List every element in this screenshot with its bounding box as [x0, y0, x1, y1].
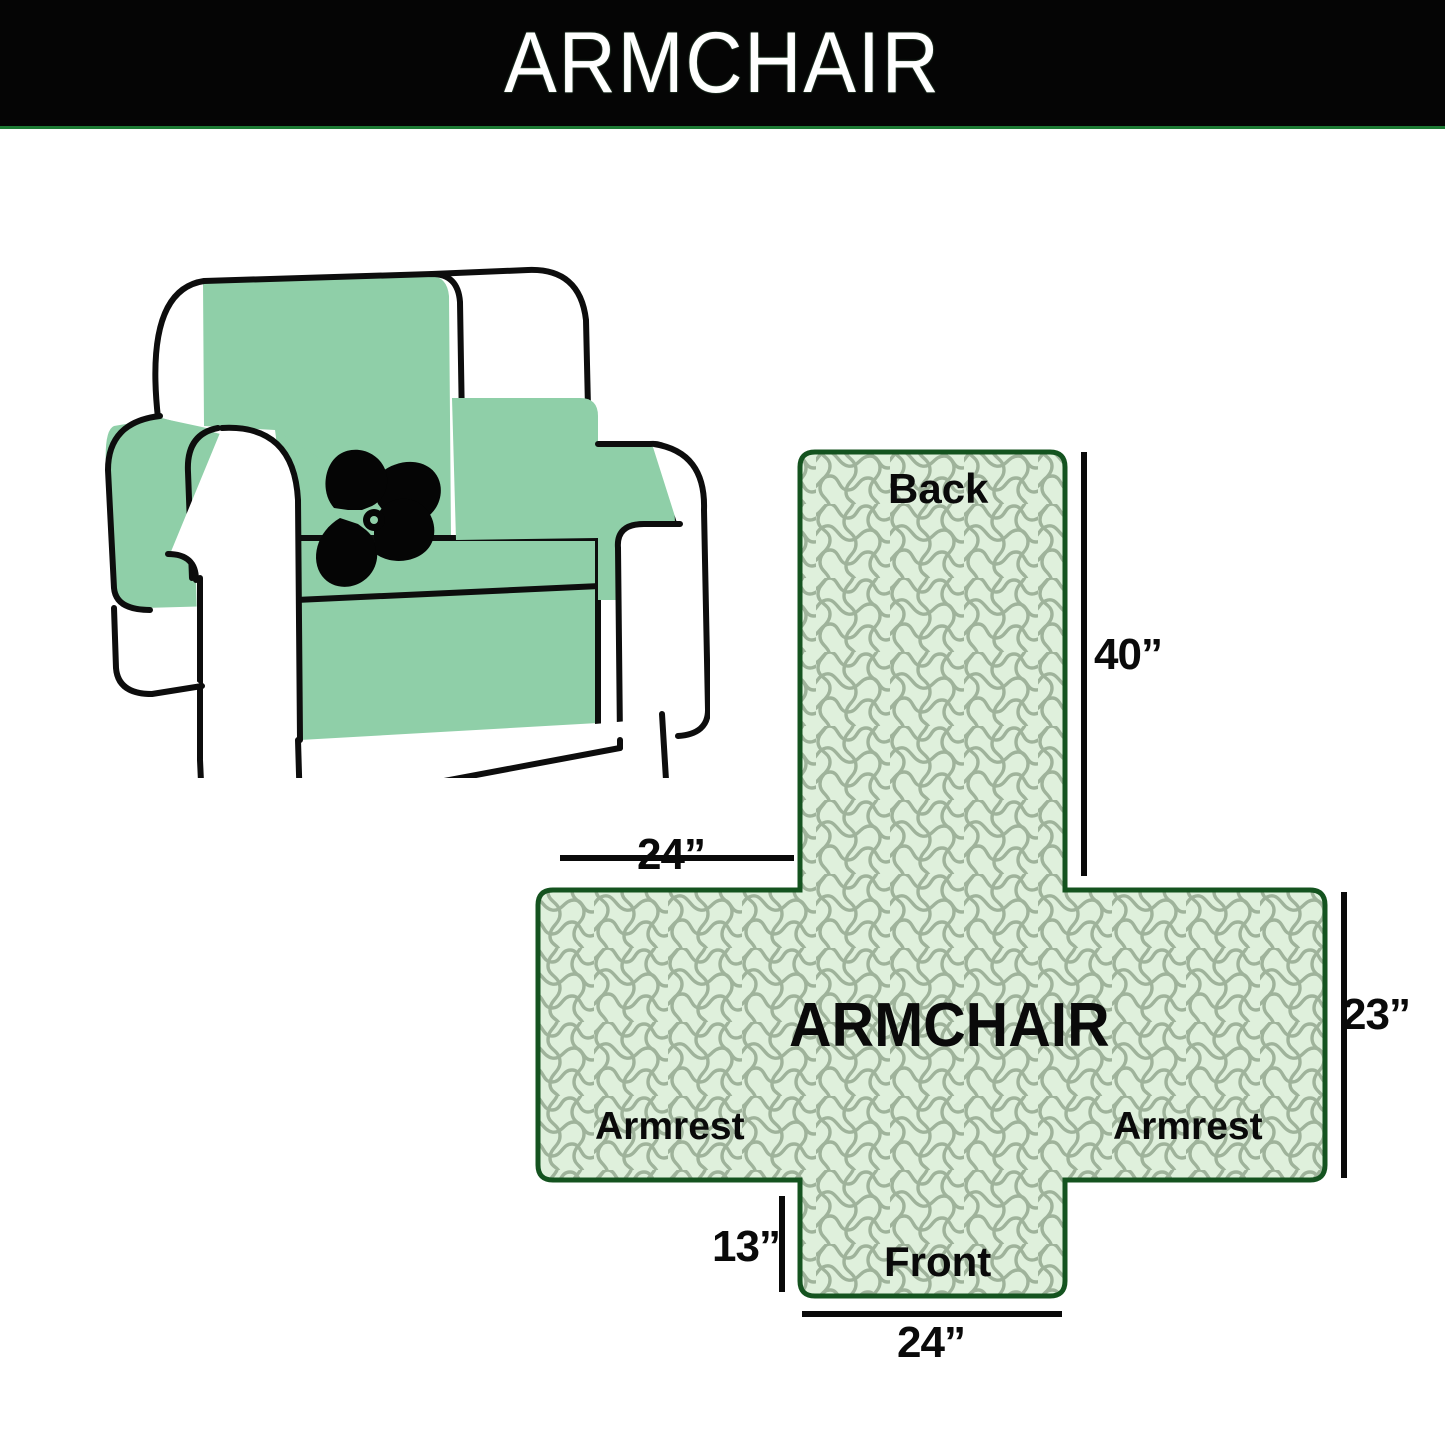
dimension-label-back-width: 24”	[637, 830, 705, 880]
header-bar: ARMCHAIR	[0, 0, 1445, 126]
product-diagram-page: ARMCHAIR	[0, 0, 1445, 1445]
panel-label-center: ARMCHAIR	[789, 990, 1110, 1061]
header-divider	[0, 126, 1445, 129]
dimension-label-front-height: 13”	[712, 1222, 780, 1272]
dimension-label-front-width: 24”	[897, 1318, 965, 1368]
panel-label-armrest-right: Armrest	[1113, 1105, 1263, 1149]
panel-label-back: Back	[888, 465, 988, 513]
dimension-label-back-height: 40”	[1094, 630, 1162, 680]
slipcover-layout-svg	[520, 430, 1445, 1355]
panel-label-armrest-left: Armrest	[595, 1105, 745, 1149]
page-title: ARMCHAIR	[504, 20, 941, 106]
dimension-label-armrest-height: 23”	[1342, 990, 1410, 1040]
panel-label-front: Front	[884, 1238, 991, 1286]
slipcover-layout-diagram	[520, 430, 1445, 1355]
